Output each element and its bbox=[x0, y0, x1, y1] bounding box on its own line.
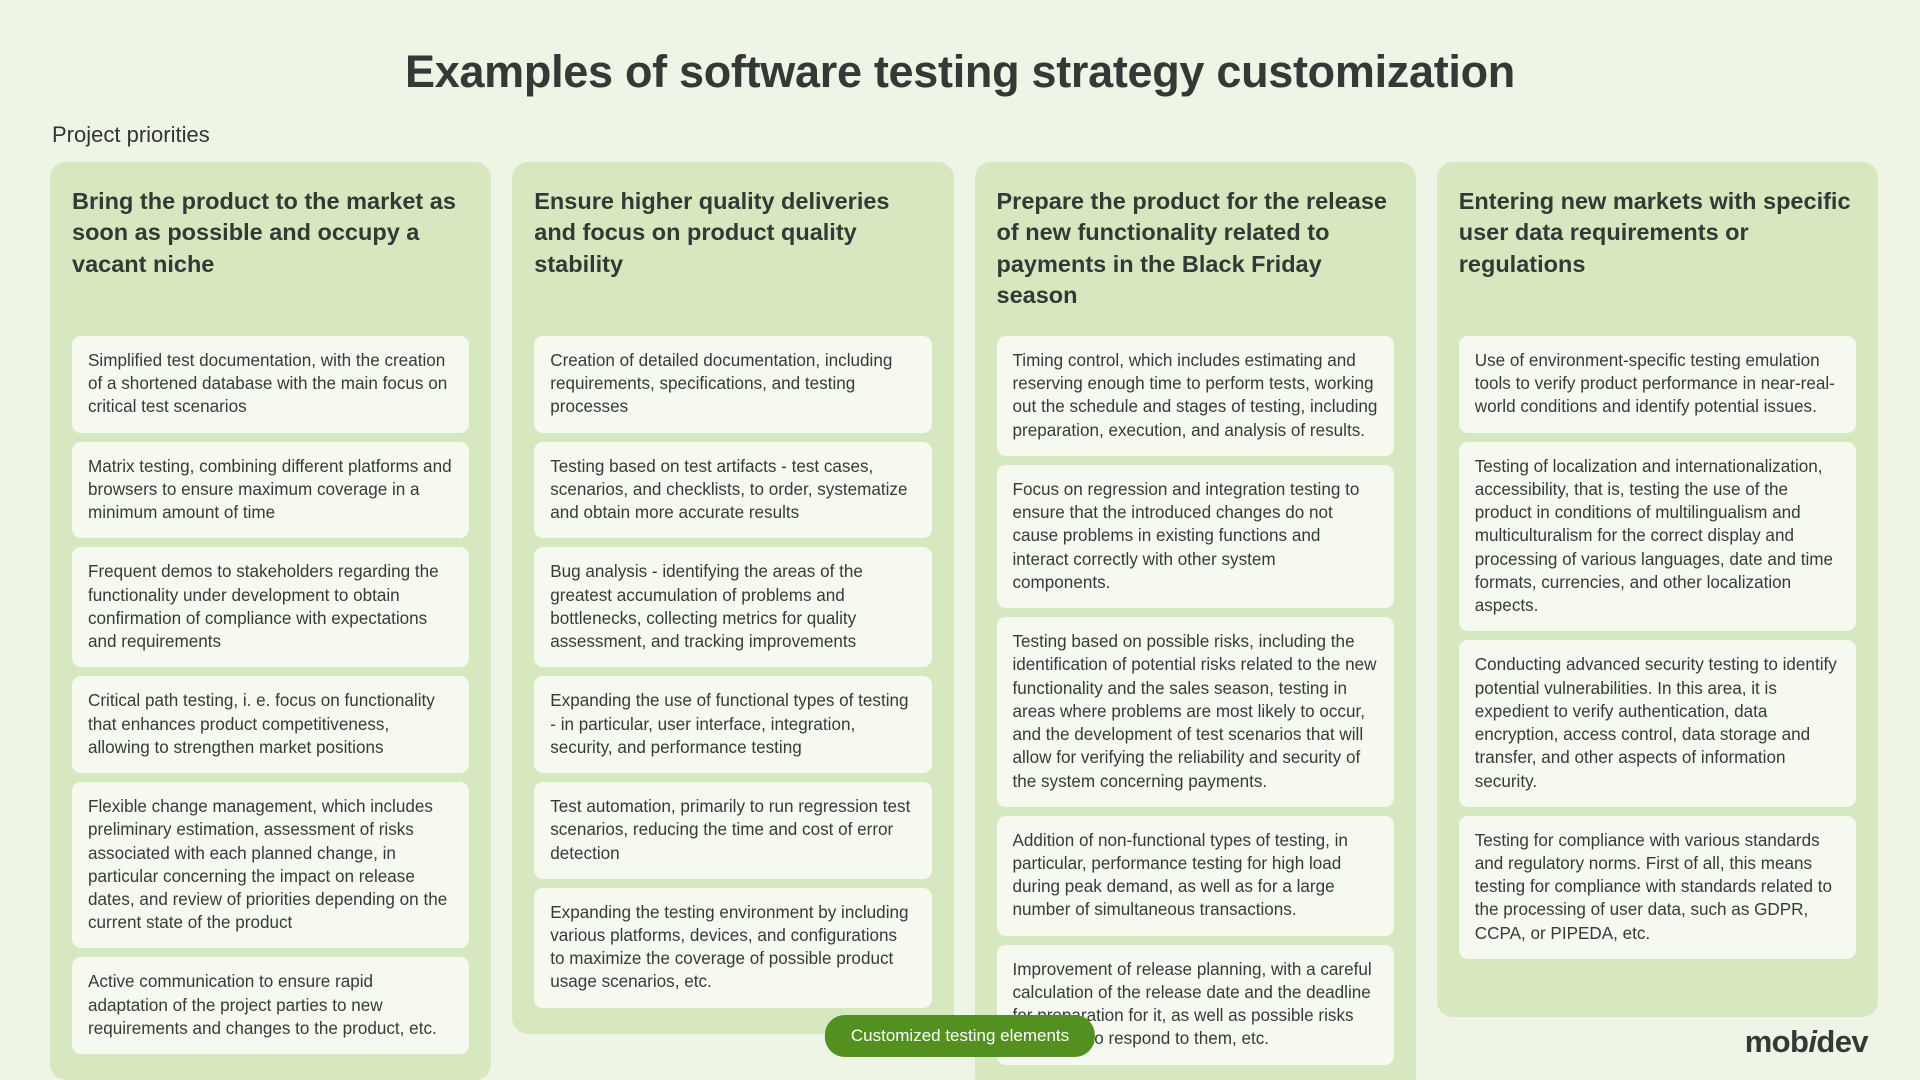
list-item[interactable]: Frequent demos to stakeholders regarding… bbox=[72, 547, 469, 667]
card-list-2: Creation of detailed documentation, incl… bbox=[534, 336, 931, 1008]
list-item[interactable]: Simplified test documentation, with the … bbox=[72, 336, 469, 433]
list-item[interactable]: Test automation, primarily to run regres… bbox=[534, 782, 931, 879]
list-item[interactable]: Use of environment-specific testing emul… bbox=[1459, 336, 1856, 433]
column-title-4: Entering new markets with specific user … bbox=[1459, 186, 1856, 314]
list-item[interactable]: Timing control, which includes estimatin… bbox=[997, 336, 1394, 456]
list-item[interactable]: Flexible change management, which includ… bbox=[72, 782, 469, 948]
legend-badge: Customized testing elements bbox=[825, 1015, 1095, 1057]
list-item[interactable]: Conducting advanced security testing to … bbox=[1459, 640, 1856, 806]
list-item[interactable]: Expanding the testing environment by inc… bbox=[534, 888, 931, 1008]
list-item[interactable]: Expanding the use of functional types of… bbox=[534, 676, 931, 773]
page-title: Examples of software testing strategy cu… bbox=[0, 0, 1920, 97]
list-item[interactable]: Focus on regression and integration test… bbox=[997, 465, 1394, 608]
list-item[interactable]: Creation of detailed documentation, incl… bbox=[534, 336, 931, 433]
priority-columns: Bring the product to the market as soon … bbox=[50, 162, 1878, 1080]
card-list-1: Simplified test documentation, with the … bbox=[72, 336, 469, 1054]
column-title-1: Bring the product to the market as soon … bbox=[72, 186, 469, 314]
list-item[interactable]: Critical path testing, i. e. focus on fu… bbox=[72, 676, 469, 773]
subtitle-project-priorities: Project priorities bbox=[52, 122, 210, 148]
column-title-2: Ensure higher quality deliveries and foc… bbox=[534, 186, 931, 314]
priority-column-3: Prepare the product for the release of n… bbox=[975, 162, 1416, 1080]
priority-column-4: Entering new markets with specific user … bbox=[1437, 162, 1878, 1017]
column-title-3: Prepare the product for the release of n… bbox=[997, 186, 1394, 314]
priority-column-2: Ensure higher quality deliveries and foc… bbox=[512, 162, 953, 1034]
list-item[interactable]: Testing based on possible risks, includi… bbox=[997, 617, 1394, 807]
list-item[interactable]: Bug analysis - identifying the areas of … bbox=[534, 547, 931, 667]
list-item[interactable]: Matrix testing, combining different plat… bbox=[72, 442, 469, 539]
mobidev-logo: mobidev bbox=[1745, 1024, 1868, 1060]
list-item[interactable]: Testing of localization and internationa… bbox=[1459, 442, 1856, 632]
card-list-4: Use of environment-specific testing emul… bbox=[1459, 336, 1856, 959]
card-list-3: Timing control, which includes estimatin… bbox=[997, 336, 1394, 1065]
list-item[interactable]: Addition of non-functional types of test… bbox=[997, 816, 1394, 936]
logo-suffix: dev bbox=[1816, 1024, 1868, 1059]
logo-prefix: mob bbox=[1745, 1024, 1809, 1059]
list-item[interactable]: Testing based on test artifacts - test c… bbox=[534, 442, 931, 539]
list-item[interactable]: Testing for compliance with various stan… bbox=[1459, 816, 1856, 959]
priority-column-1: Bring the product to the market as soon … bbox=[50, 162, 491, 1080]
footer: Customized testing elements mobidev bbox=[0, 1000, 1920, 1080]
